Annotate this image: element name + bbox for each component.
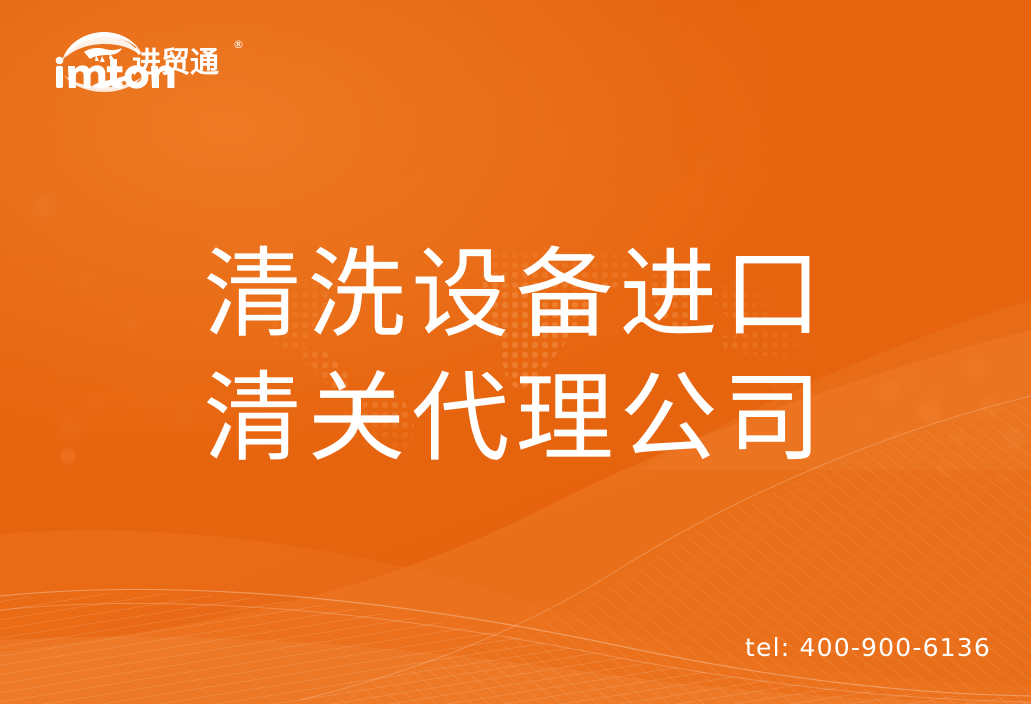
headline-line-1: 清洗设备进口	[0, 233, 1031, 357]
registered-trademark-icon: ®	[233, 38, 244, 51]
brand-chinese-name: 进贸通	[132, 42, 219, 82]
brand-chinese-name-wrap: 进贸通 ®	[132, 42, 242, 82]
headline: 清洗设备进口 清关代理公司	[0, 233, 1031, 481]
headline-line-2: 清关代理公司	[0, 357, 1031, 481]
brand-logo[interactable]: 进贸通 ®	[40, 28, 210, 98]
promo-banner: 进贸通 ® 清洗设备进口 清关代理公司 tel: 400-900-6136	[0, 0, 1031, 704]
phone-number[interactable]: tel: 400-900-6136	[745, 633, 991, 662]
